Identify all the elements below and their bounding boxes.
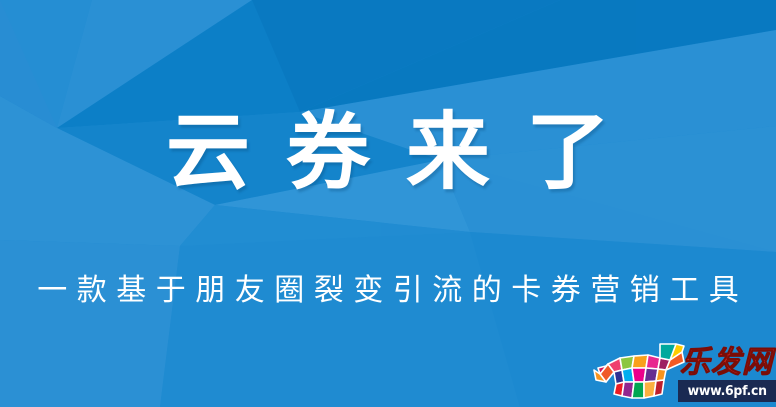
site-watermark: 乐 发 网 www.6pf.cn (592, 336, 776, 407)
brand-logotype: 乐 发 网 (678, 340, 776, 384)
url-bar: www.6pf.cn (678, 380, 776, 402)
brand-char-fa: 发 (711, 345, 745, 380)
brand-char-wang: 网 (742, 345, 776, 380)
site-url: www.6pf.cn (687, 384, 766, 399)
promo-banner: 云券来了 一款基于朋友圈裂变引流的卡券营销工具 (0, 0, 776, 407)
brand-char-le: 乐 (680, 345, 713, 380)
polygonal-bull-icon (592, 338, 688, 404)
